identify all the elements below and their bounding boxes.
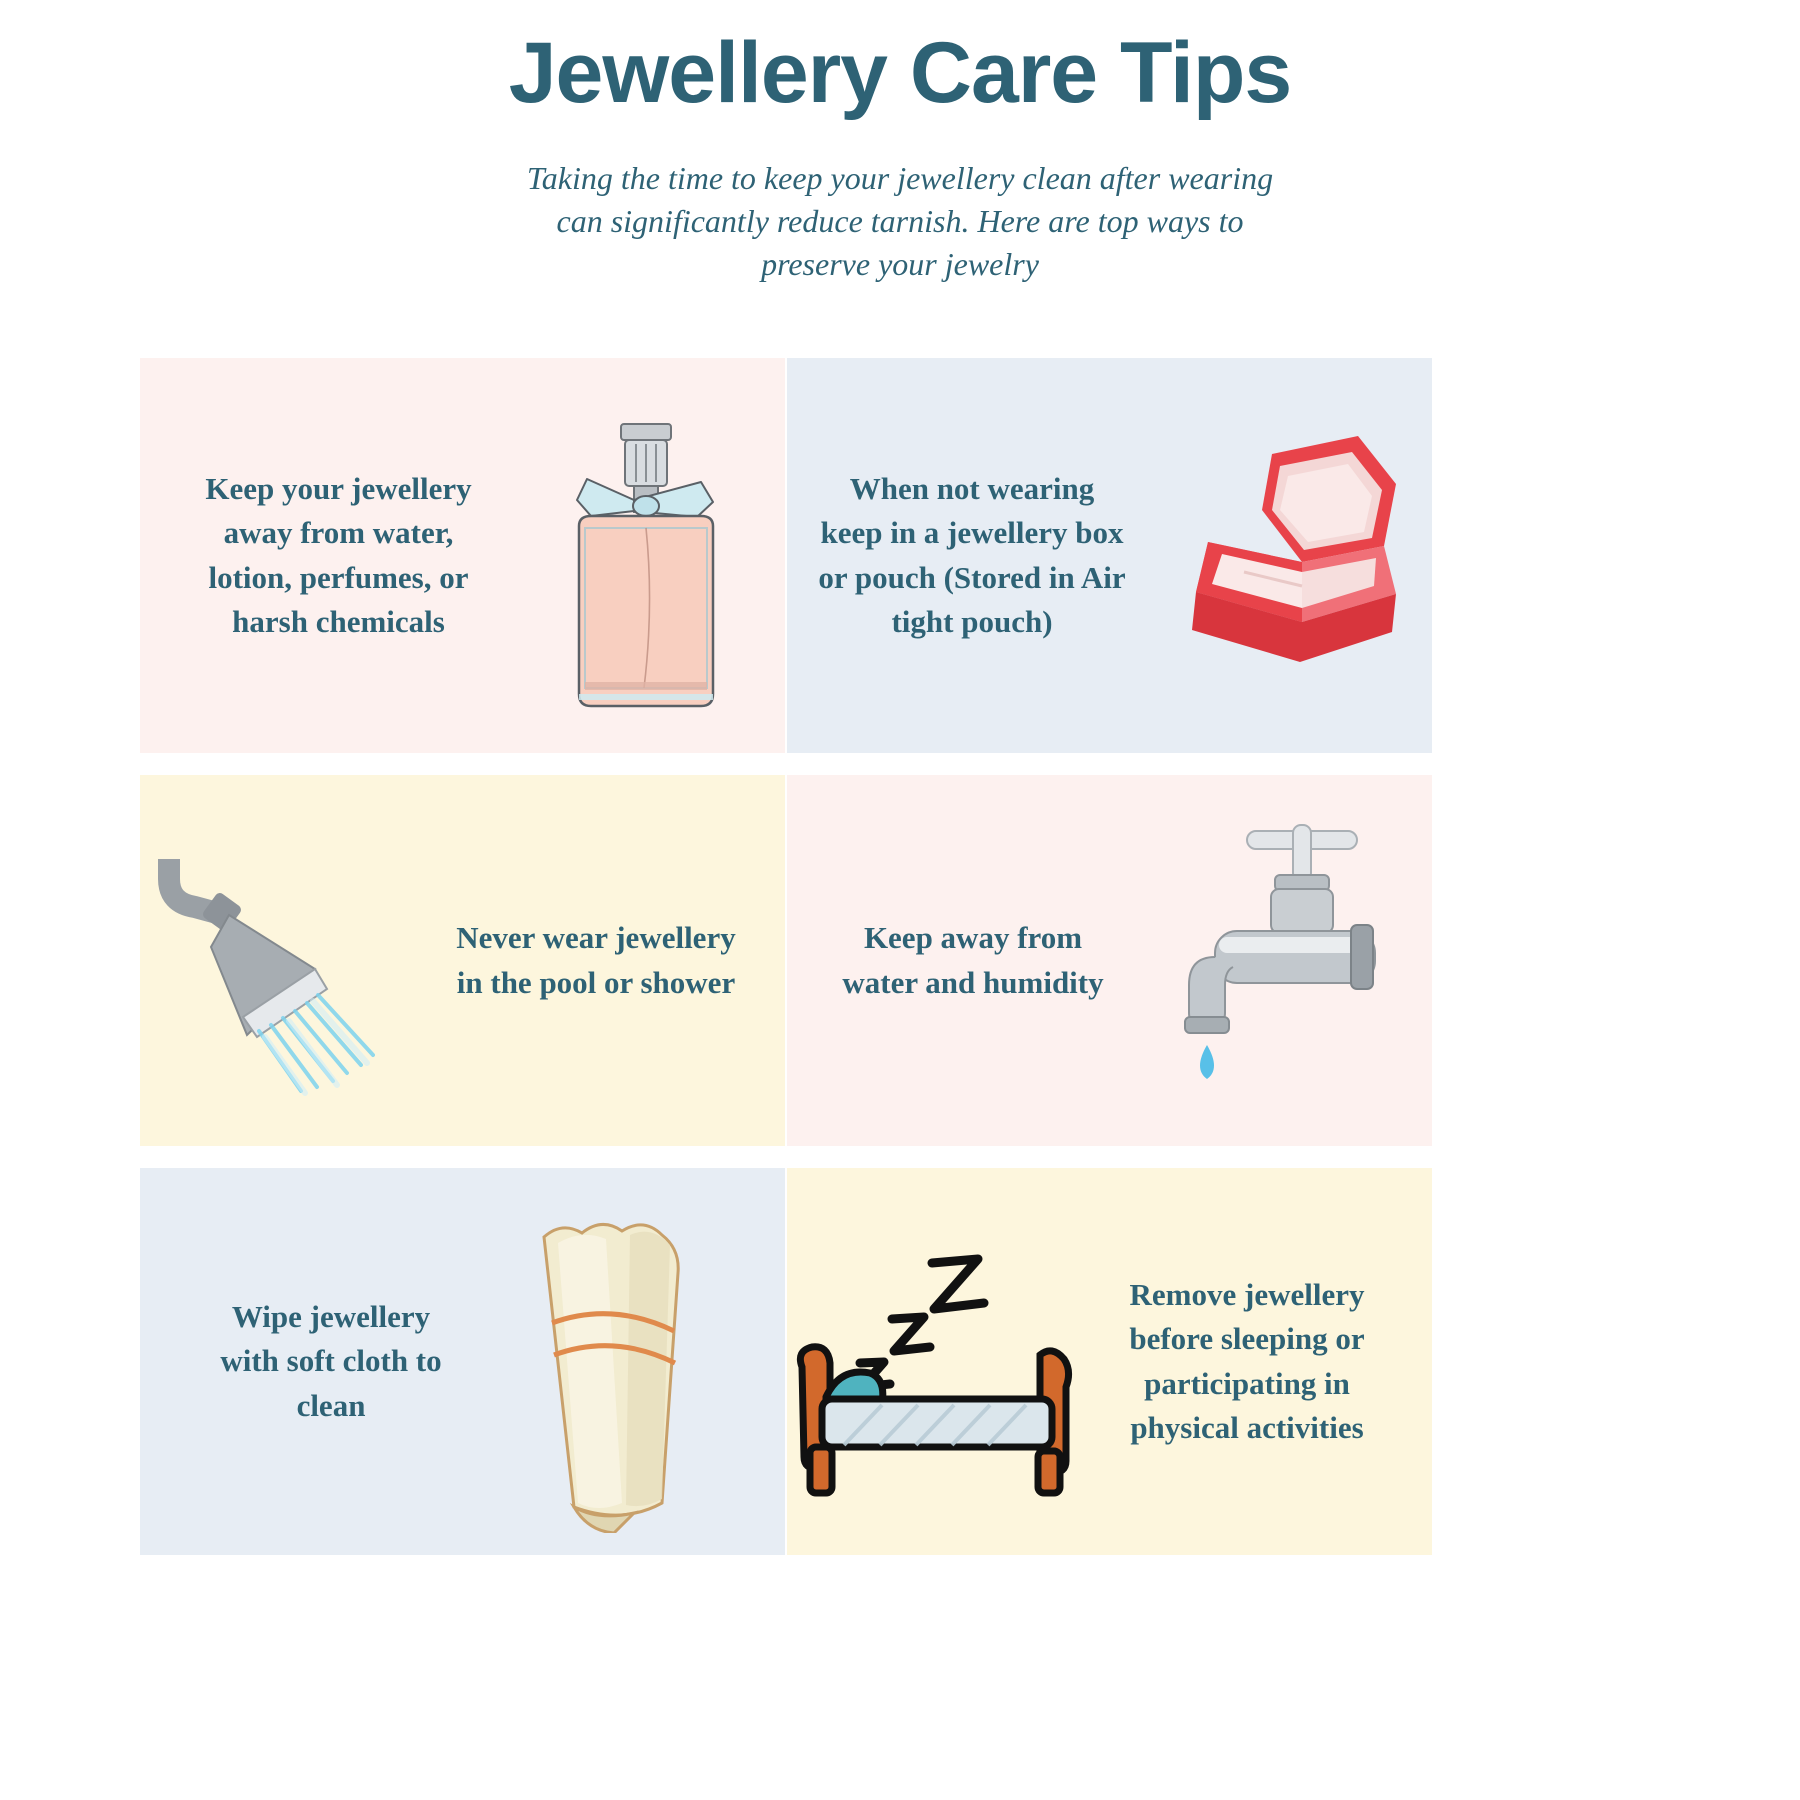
tip-card-wipe-with-cloth: Wipe jewellery with soft cloth to clean [140,1168,785,1555]
tip-text: Wipe jewellery with soft cloth to clean [140,1295,460,1427]
header: Jewellery Care Tips Taking the time to k… [0,0,1800,286]
tip-text: Keep your jewellery away from water, lot… [140,467,495,643]
tip-illustration [495,358,785,753]
tip-illustration [140,775,455,1146]
tip-card-away-from-water: Keep away from water and humidity [787,775,1432,1146]
tip-illustration [787,1168,1112,1555]
faucet-icon [1155,821,1405,1101]
tips-grid: Keep your jewellery away from water, lot… [140,358,1432,1555]
infographic-page: Jewellery Care Tips Taking the time to k… [0,0,1800,1800]
page-title: Jewellery Care Tips [0,24,1800,123]
tip-text: Keep away from water and humidity [787,916,1107,1004]
tip-card-no-pool-or-shower: Never wear jewellery in the pool or show… [140,775,785,1146]
tip-text: Never wear jewellery in the pool or show… [455,916,785,1004]
tip-card-away-from-chemicals: Keep your jewellery away from water, lot… [140,358,785,753]
shower-head-icon [155,841,405,1101]
perfume-bottle-icon [541,416,751,716]
polishing-cloth-icon [502,1203,732,1533]
tip-text: Remove jewellery before sleeping or part… [1112,1273,1432,1449]
tip-card-store-in-box: When not wearing keep in a jewellery box… [787,358,1432,753]
tip-illustration [1107,775,1432,1146]
bed-sleeping-icon [787,1247,1102,1497]
tip-illustration [1127,358,1432,753]
tip-card-remove-before-sleeping: Remove jewellery before sleeping or part… [787,1168,1432,1555]
tip-illustration [460,1168,785,1555]
page-subtitle: Taking the time to keep your jewellery c… [520,157,1280,287]
ring-box-icon [1152,426,1412,686]
tip-text: When not wearing keep in a jewellery box… [787,467,1127,643]
